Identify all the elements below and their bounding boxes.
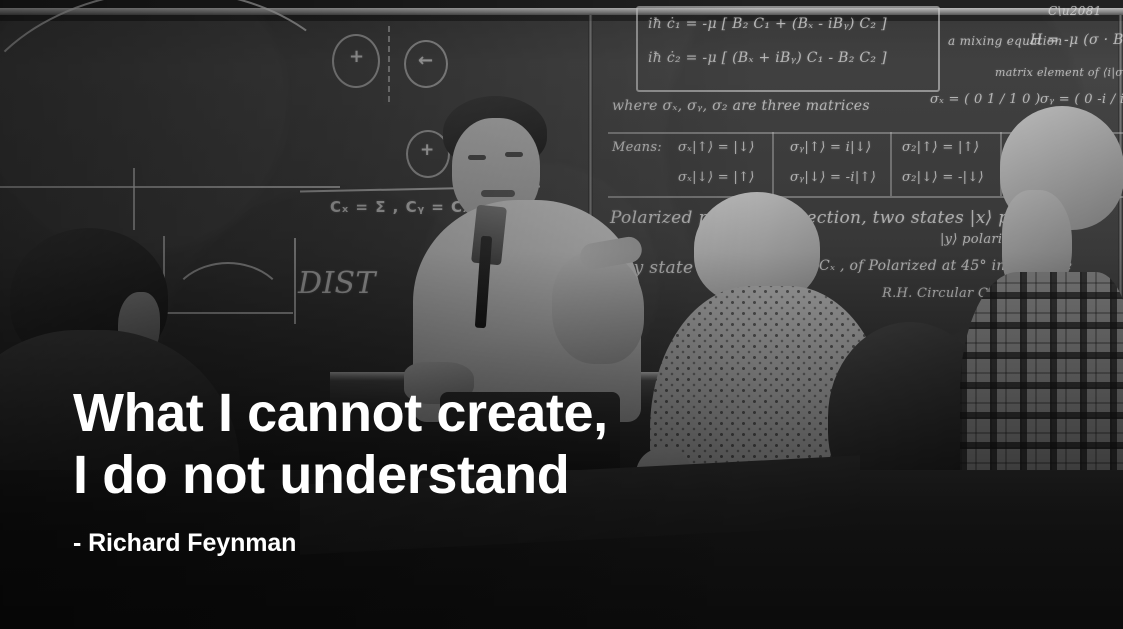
quote-attribution: - Richard Feynman [73, 506, 833, 558]
quote-image-canvas: + ← + + Cₓ = Σ , Cᵧ = Cₓ DIST iħ ċ₁ = -μ… [0, 0, 1123, 629]
quote-line-1: What I cannot create, [73, 382, 833, 444]
quote-line-2: I do not understand [73, 444, 833, 506]
quote-block: What I cannot create, I do not understan… [73, 382, 833, 558]
